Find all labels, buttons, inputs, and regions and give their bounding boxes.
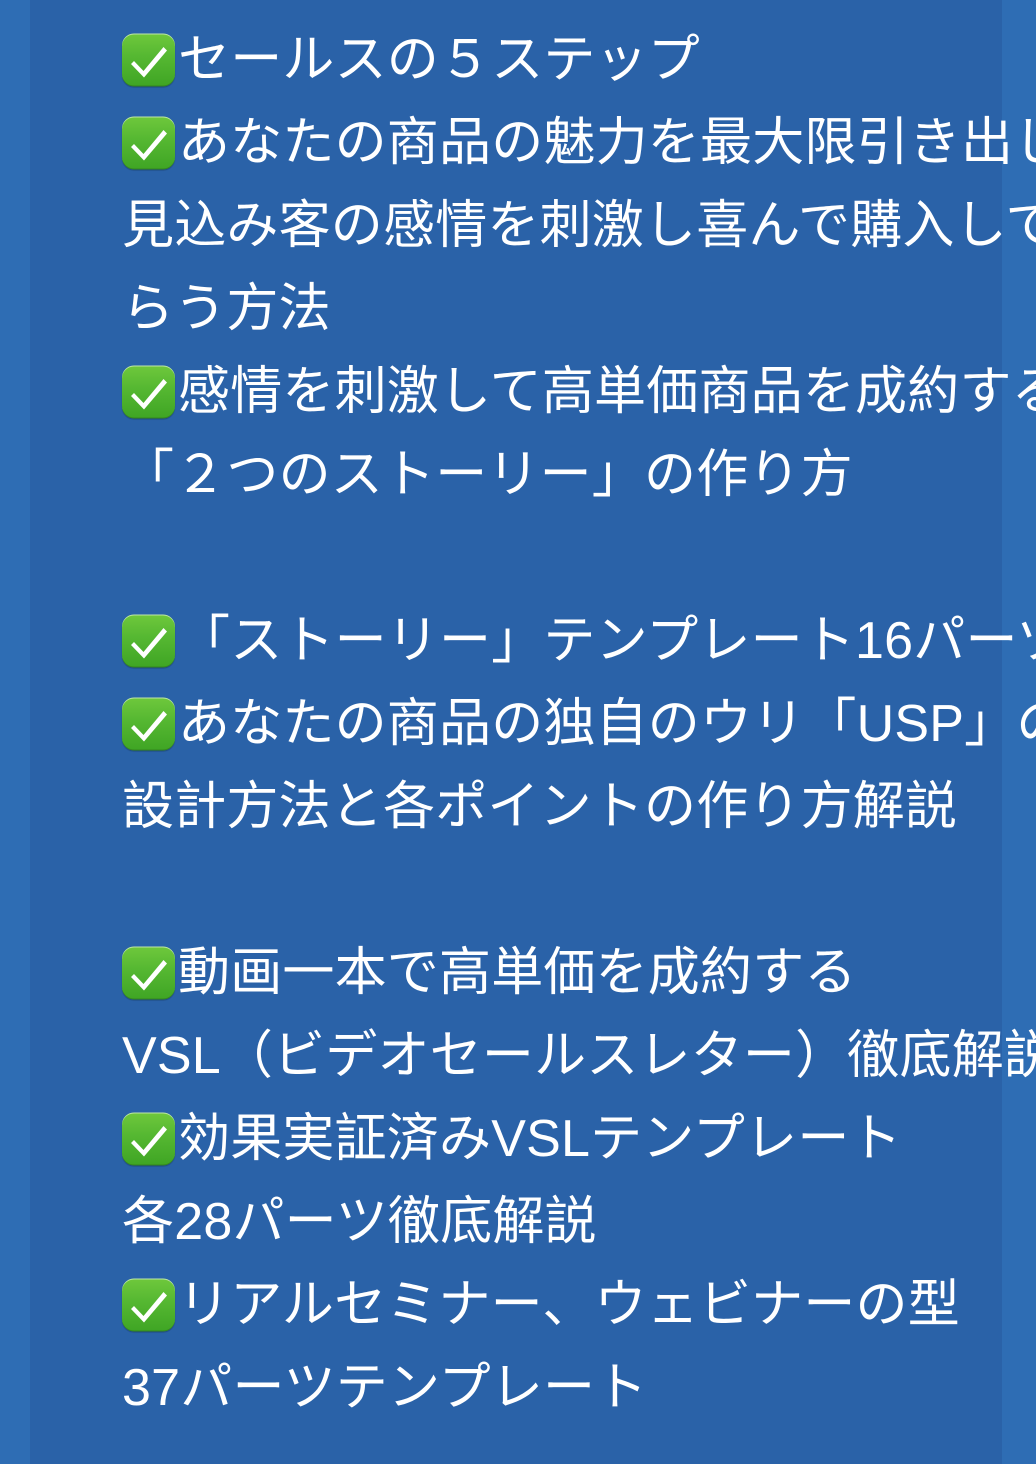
benefit-line: VSL（ビデオセールスレター）徹底解説 — [0, 1014, 1036, 1097]
benefit-text: 「２つのストーリー」の作り方 — [122, 449, 853, 501]
benefit-text: 感情を刺激して高単価商品を成約する — [178, 366, 1036, 418]
benefit-line: 各28パーツ徹底解説 — [0, 1180, 1036, 1263]
benefit-text: 見込み客の感情を刺激し喜んで購入しても — [122, 200, 1036, 252]
benefit-line: セールスの５ステップ — [0, 18, 1036, 101]
benefit-text: VSL（ビデオセールスレター）徹底解説 — [122, 1030, 1036, 1082]
benefit-line: あなたの商品の独自のウリ「USP」の — [0, 682, 1036, 765]
benefit-text: リアルセミナー、ウェビナーの型 — [178, 1279, 960, 1331]
benefit-line: らう方法 — [0, 267, 1036, 350]
benefit-spacer — [0, 516, 1036, 599]
white-heavy-check-mark-icon — [122, 1278, 175, 1331]
slide-canvas: セールスの５ステップあなたの商品の魅力を最大限引き出し見込み客の感情を刺激し喜ん… — [0, 0, 1036, 1464]
white-heavy-check-mark-icon — [122, 697, 175, 750]
benefit-line: 「２つのストーリー」の作り方 — [0, 433, 1036, 516]
benefit-text: あなたの商品の魅力を最大限引き出し — [178, 117, 1036, 169]
benefit-line: あなたの商品の魅力を最大限引き出し — [0, 101, 1036, 184]
benefit-line: 「ストーリー」テンプレート16パーツ — [0, 599, 1036, 682]
benefit-line: 動画一本で高単価を成約する — [0, 931, 1036, 1014]
benefit-text: らう方法 — [122, 283, 331, 335]
benefit-text: 「ストーリー」テンプレート16パーツ — [178, 615, 1036, 667]
benefit-list: セールスの５ステップあなたの商品の魅力を最大限引き出し見込み客の感情を刺激し喜ん… — [0, 0, 1036, 1429]
benefit-text: 37パーツテンプレート — [122, 1362, 647, 1414]
benefit-text: 効果実証済みVSLテンプレート — [178, 1113, 902, 1165]
benefit-line: 感情を刺激して高単価商品を成約する — [0, 350, 1036, 433]
benefit-line: 効果実証済みVSLテンプレート — [0, 1097, 1036, 1180]
white-heavy-check-mark-icon — [122, 946, 175, 999]
white-heavy-check-mark-icon — [122, 1112, 175, 1165]
white-heavy-check-mark-icon — [122, 365, 175, 418]
white-heavy-check-mark-icon — [122, 614, 175, 667]
benefit-line: 見込み客の感情を刺激し喜んで購入しても — [0, 184, 1036, 267]
benefit-text: 動画一本で高単価を成約する — [178, 947, 857, 999]
benefit-text: セールスの５ステップ — [178, 34, 700, 86]
benefit-line: 37パーツテンプレート — [0, 1346, 1036, 1429]
benefit-line: リアルセミナー、ウェビナーの型 — [0, 1263, 1036, 1346]
benefit-spacer — [0, 848, 1036, 931]
benefit-text: 設計方法と各ポイントの作り方解説 — [122, 781, 957, 833]
white-heavy-check-mark-icon — [122, 116, 175, 169]
white-heavy-check-mark-icon — [122, 33, 175, 86]
benefit-line: 設計方法と各ポイントの作り方解説 — [0, 765, 1036, 848]
benefit-text: 各28パーツ徹底解説 — [122, 1196, 597, 1248]
benefit-text: あなたの商品の独自のウリ「USP」の — [178, 698, 1036, 750]
